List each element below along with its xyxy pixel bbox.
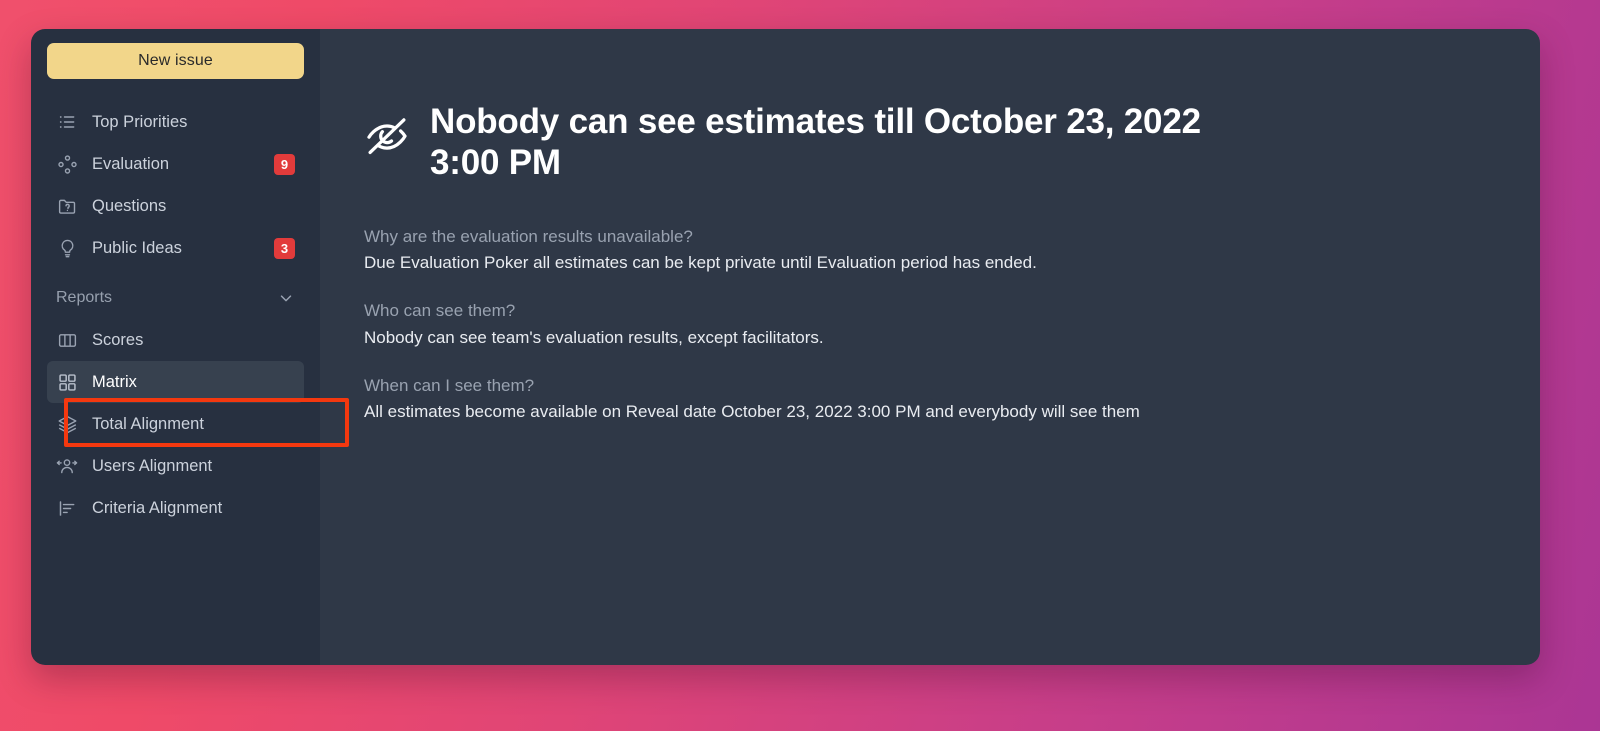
sidebar-item-matrix[interactable]: Matrix bbox=[47, 361, 304, 403]
sidebar-item-total-alignment[interactable]: Total Alignment bbox=[47, 403, 304, 445]
sidebar-item-evaluation[interactable]: Evaluation 9 bbox=[47, 143, 304, 185]
columns-icon bbox=[56, 329, 78, 351]
folder-question-icon bbox=[56, 195, 78, 217]
sidebar-item-label: Matrix bbox=[92, 374, 137, 391]
reports-section-title: Reports bbox=[56, 289, 112, 307]
list-icon bbox=[56, 111, 78, 133]
sidebar-item-questions[interactable]: Questions bbox=[47, 185, 304, 227]
sidebar-item-label: Scores bbox=[92, 332, 143, 349]
sidebar-item-criteria-alignment[interactable]: Criteria Alignment bbox=[47, 487, 304, 529]
page-title: Nobody can see estimates till October 23… bbox=[430, 101, 1204, 184]
public-ideas-badge: 3 bbox=[274, 238, 295, 259]
faq-item: Why are the evaluation results unavailab… bbox=[364, 224, 1506, 277]
grid-squares-icon bbox=[56, 371, 78, 393]
faq-answer: Due Evaluation Poker all estimates can b… bbox=[364, 250, 1506, 276]
app-window: New issue Top Priorities bbox=[31, 29, 1540, 665]
sidebar-item-label: Evaluation bbox=[92, 156, 169, 173]
lightbulb-icon bbox=[56, 237, 78, 259]
new-issue-button[interactable]: New issue bbox=[47, 43, 304, 79]
faq-question: Who can see them? bbox=[364, 298, 1506, 324]
main-content: Nobody can see estimates till October 23… bbox=[320, 29, 1540, 665]
sidebar-item-label: Users Alignment bbox=[92, 458, 212, 475]
page-header: Nobody can see estimates till October 23… bbox=[364, 101, 1204, 184]
chevron-down-icon[interactable] bbox=[277, 289, 295, 307]
faq-item: When can I see them? All estimates becom… bbox=[364, 373, 1506, 426]
evaluation-nodes-icon bbox=[56, 153, 78, 175]
faq-answer: Nobody can see team's evaluation results… bbox=[364, 325, 1506, 351]
eye-off-icon bbox=[364, 113, 410, 159]
faq-question: Why are the evaluation results unavailab… bbox=[364, 224, 1506, 250]
sidebar-item-label: Questions bbox=[92, 198, 166, 215]
users-arrows-icon bbox=[56, 455, 78, 477]
sidebar-item-label: Public Ideas bbox=[92, 240, 182, 257]
evaluation-badge: 9 bbox=[274, 154, 295, 175]
sidebar-item-label: Total Alignment bbox=[92, 416, 204, 433]
faq-answer: All estimates become available on Reveal… bbox=[364, 399, 1506, 425]
sidebar-item-scores[interactable]: Scores bbox=[47, 319, 304, 361]
bar-list-icon bbox=[56, 497, 78, 519]
primary-nav: Top Priorities Evaluation 9 bbox=[47, 101, 304, 269]
sidebar-item-users-alignment[interactable]: Users Alignment bbox=[47, 445, 304, 487]
faq-list: Why are the evaluation results unavailab… bbox=[364, 224, 1506, 426]
reports-nav: Scores Matrix bbox=[47, 319, 304, 529]
faq-item: Who can see them? Nobody can see team's … bbox=[364, 298, 1506, 351]
sidebar-item-label: Top Priorities bbox=[92, 114, 187, 131]
reports-section-header[interactable]: Reports bbox=[47, 277, 304, 319]
sidebar: New issue Top Priorities bbox=[31, 29, 320, 665]
faq-question: When can I see them? bbox=[364, 373, 1506, 399]
sidebar-item-top-priorities[interactable]: Top Priorities bbox=[47, 101, 304, 143]
sidebar-item-label: Criteria Alignment bbox=[92, 500, 222, 517]
layers-icon bbox=[56, 413, 78, 435]
sidebar-item-public-ideas[interactable]: Public Ideas 3 bbox=[47, 227, 304, 269]
